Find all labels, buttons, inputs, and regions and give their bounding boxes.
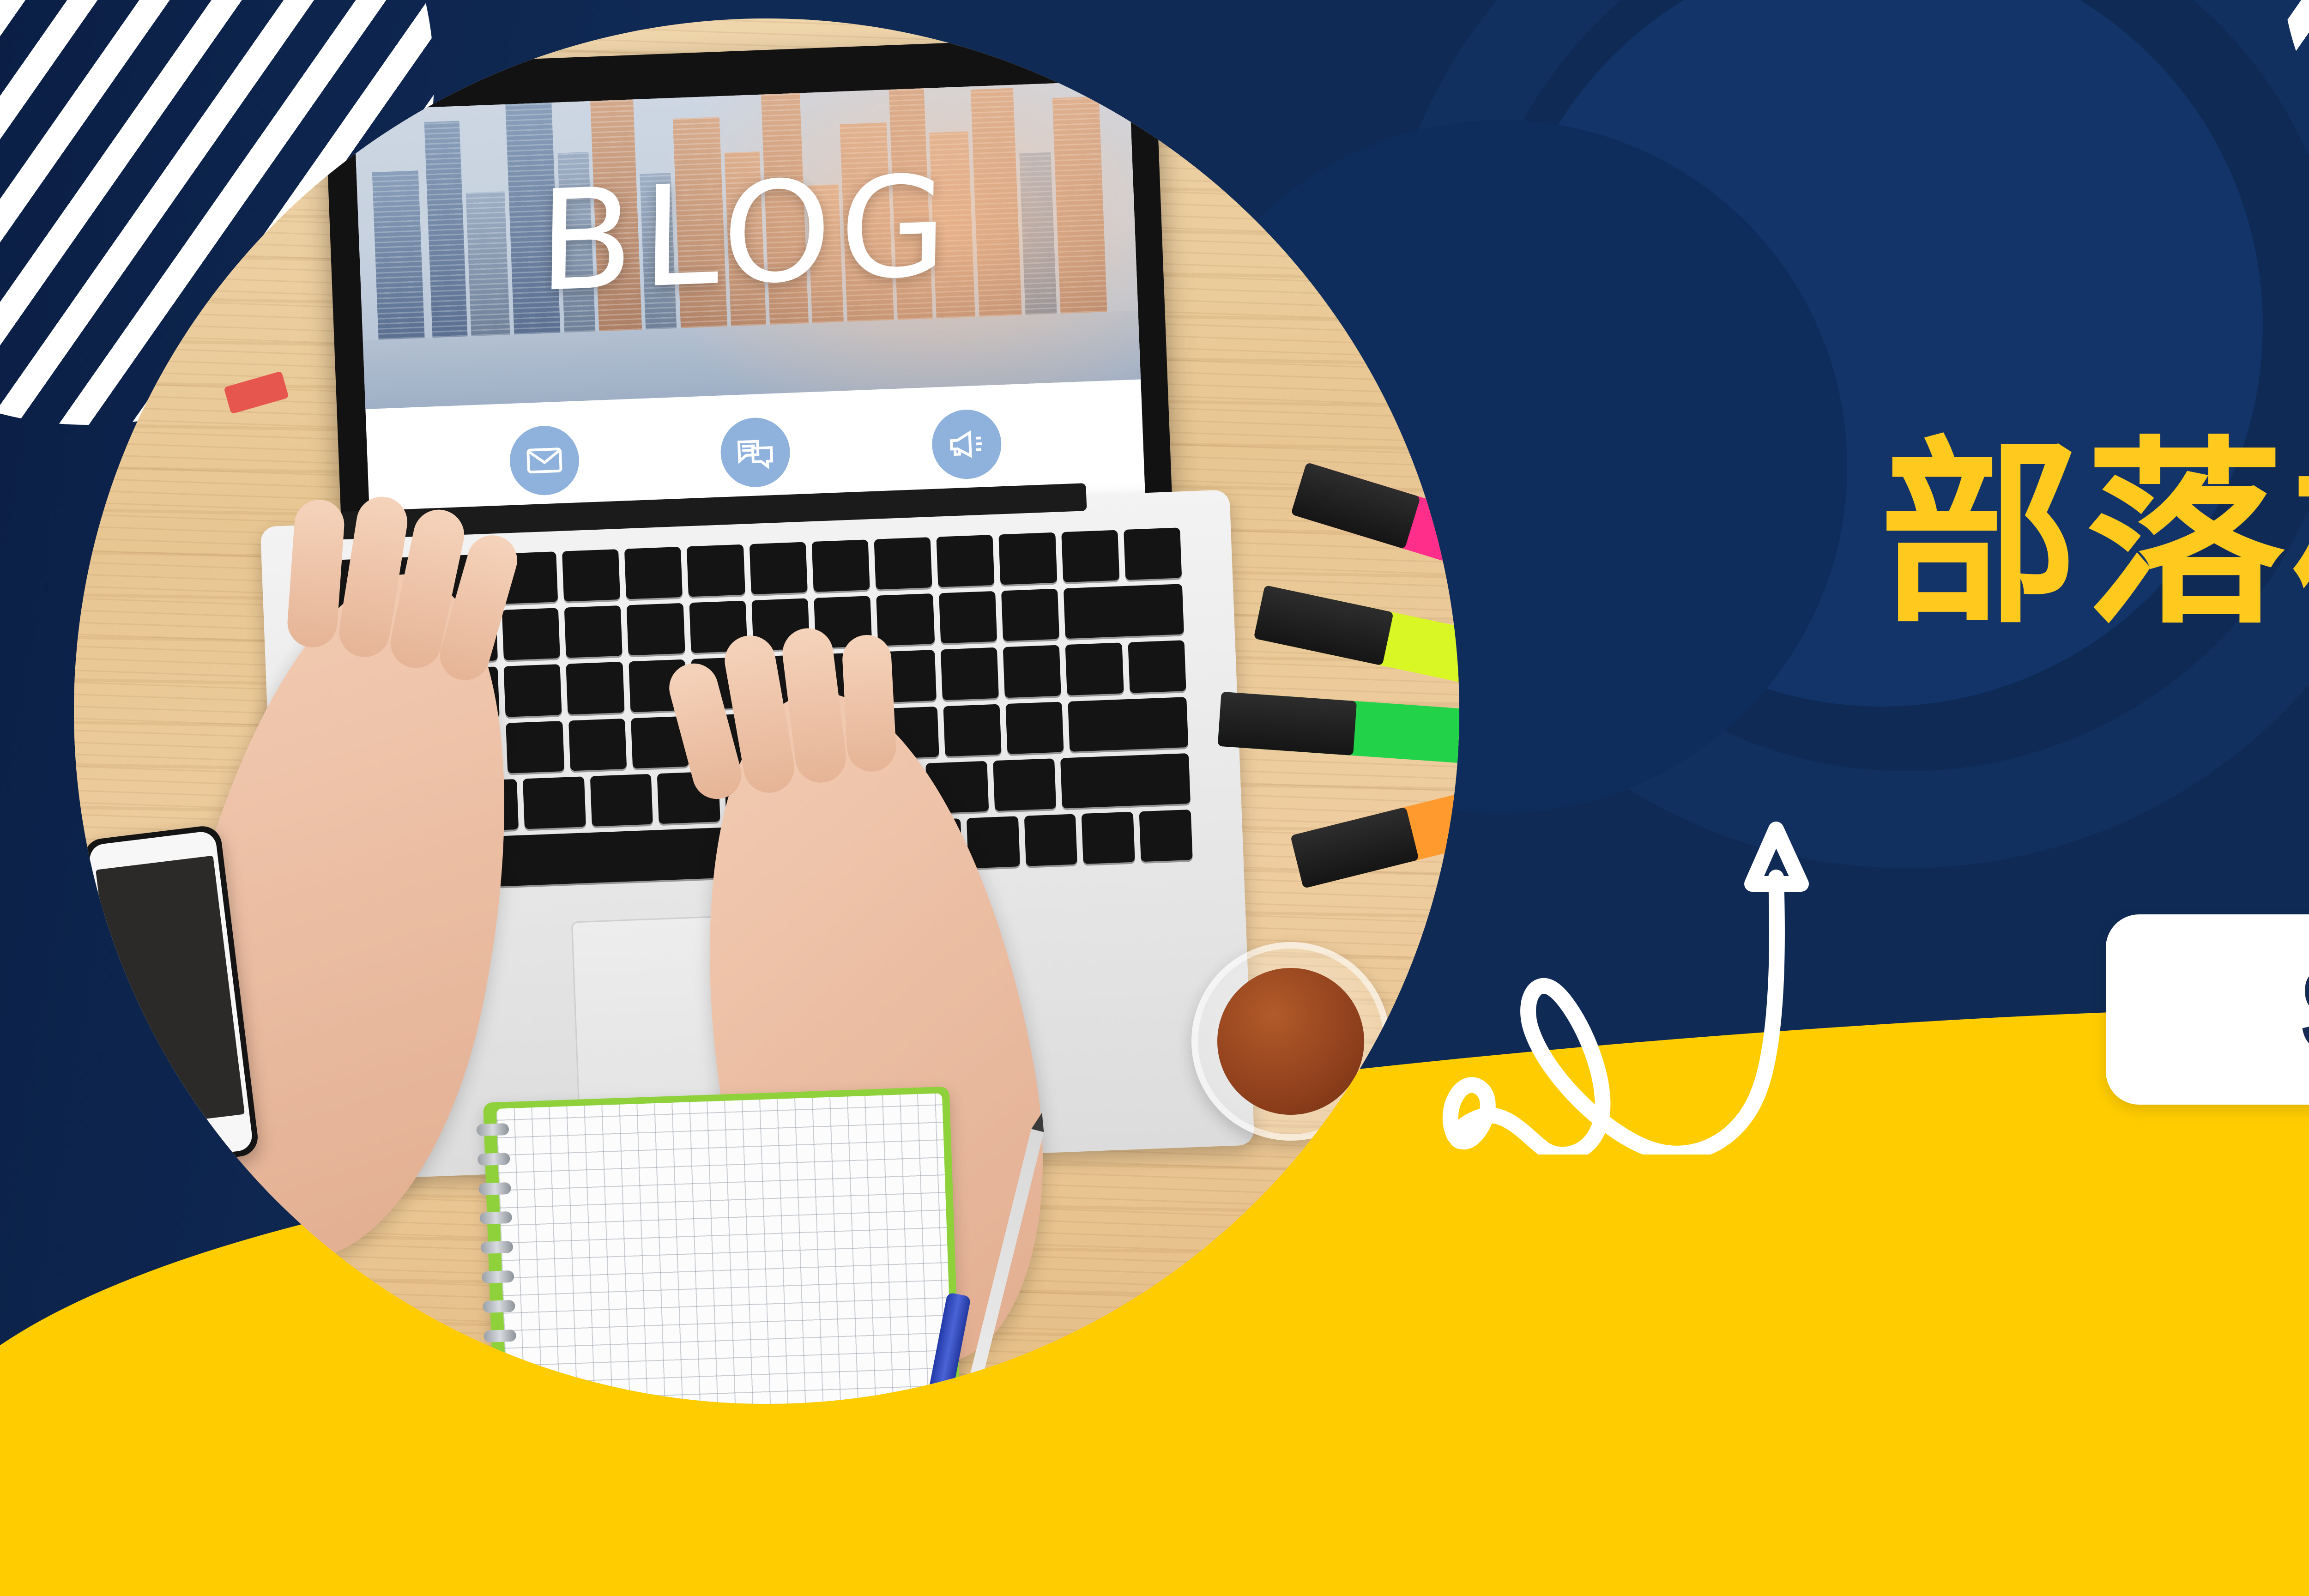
laptop-screen: BLOG: [354, 80, 1145, 526]
page-title: 部落格設計: [1880, 434, 2309, 637]
hero-photo-circle: BLOG: [74, 18, 1459, 1404]
megaphone-icon[interactable]: [931, 408, 1003, 480]
tea-cup: [1191, 942, 1390, 1141]
promo-banner: BLOG: [0, 0, 2309, 1596]
strikingly-logo-badge[interactable]: STRIKINGLY: [2106, 914, 2309, 1105]
envelope-icon[interactable]: [508, 424, 580, 496]
notebook: [483, 1087, 962, 1404]
screen-headline-blog: BLOG: [358, 139, 1136, 330]
tea-liquid: [1217, 968, 1364, 1115]
diagonal-stripes: [2281, 0, 2309, 245]
notebook-grid-page: [496, 1093, 955, 1404]
laptop-lid: BLOG: [324, 35, 1173, 542]
chat-bubbles-icon[interactable]: [719, 417, 792, 489]
smartphone-screen: [96, 856, 245, 1129]
striped-circle-top-right: [2281, 0, 2309, 245]
brand-name: STRIKINGLY: [2300, 943, 2309, 1076]
looping-arrow-doodle: [1436, 785, 1898, 1155]
